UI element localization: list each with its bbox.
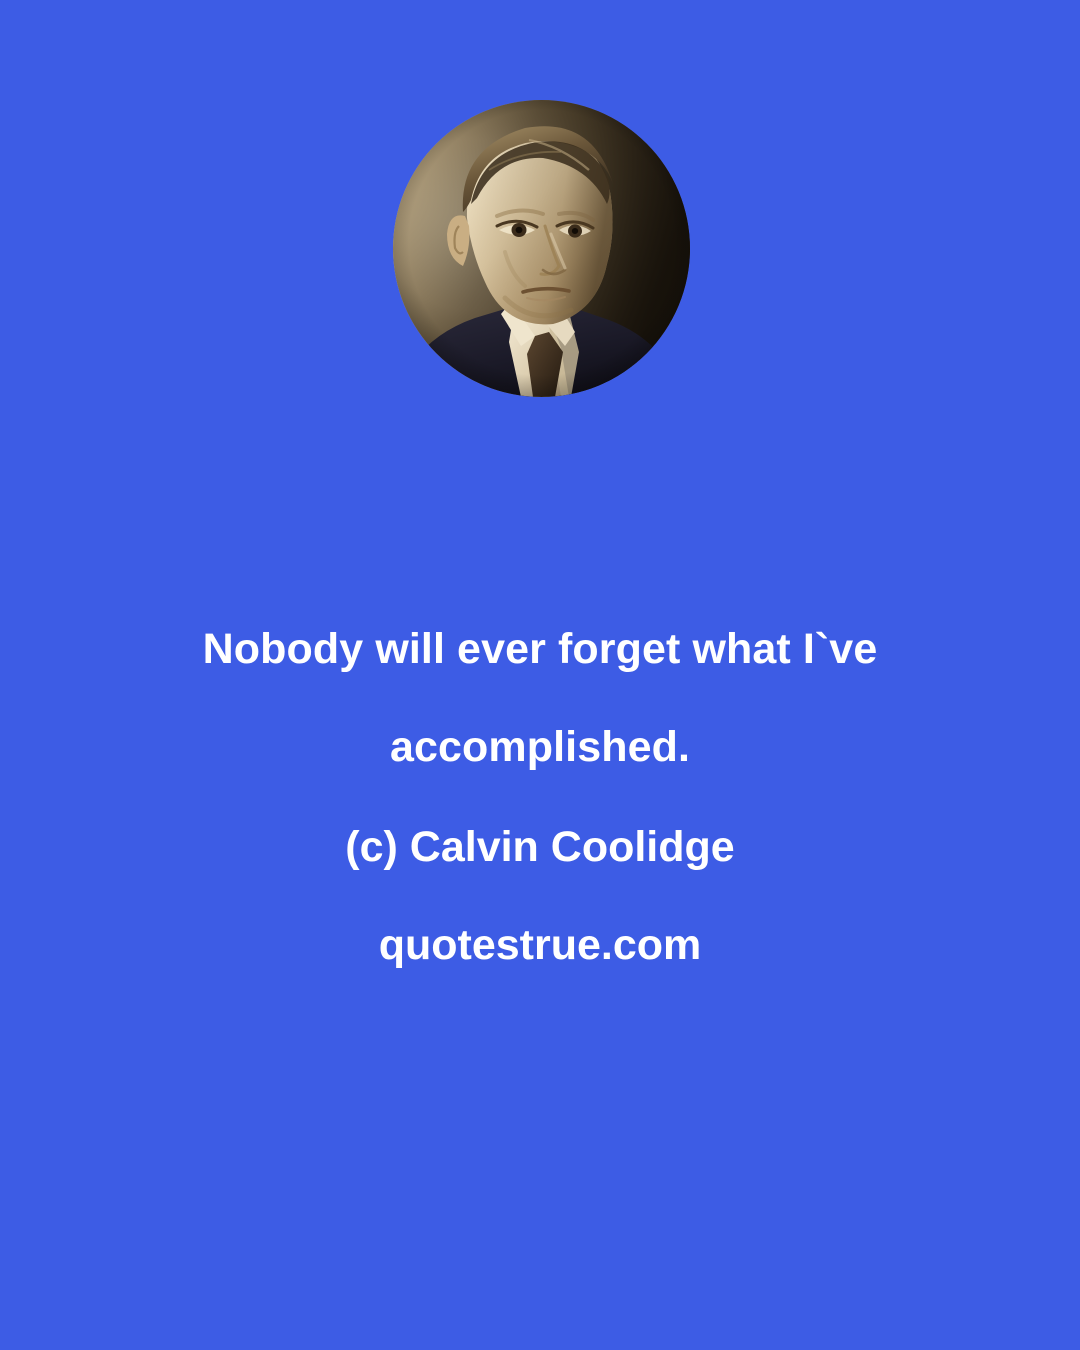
source-website: quotestrue.com <box>0 896 1080 994</box>
quote-attribution: (c) Calvin Coolidge <box>0 798 1080 896</box>
quote-line-2: accomplished. <box>0 698 1080 796</box>
quote-line-1: Nobody will ever forget what I`ve <box>0 600 1080 698</box>
quote-text-block: Nobody will ever forget what I`ve accomp… <box>0 600 1080 994</box>
author-portrait-avatar <box>393 100 690 397</box>
calvin-coolidge-portrait-icon <box>393 100 690 397</box>
quote-card: Nobody will ever forget what I`ve accomp… <box>0 0 1080 1350</box>
